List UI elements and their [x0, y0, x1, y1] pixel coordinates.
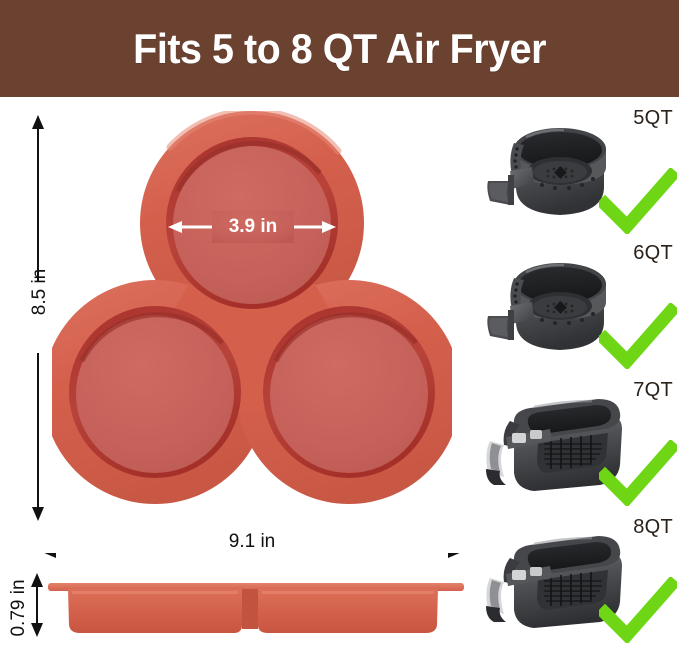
dimension-width-label: 9.1 in — [40, 531, 464, 553]
compatibility-item-8qt: 8QT — [478, 512, 679, 647]
dimension-cavity-diameter-label: 3.9 in — [212, 211, 294, 243]
dimension-thickness-label: 0.79 in — [8, 570, 30, 646]
capacity-label-8qt: 8QT — [633, 516, 673, 539]
green-check-icon — [599, 577, 677, 643]
mold-top-view-art — [52, 111, 452, 521]
banner-title: Fits 5 to 8 QT Air Fryer — [133, 25, 546, 73]
capacity-label-5qt: 5QT — [633, 107, 673, 130]
infographic-canvas: Fits 5 to 8 QT Air Fryer 8.5 in — [0, 0, 679, 656]
capacity-label-6qt: 6QT — [633, 242, 673, 265]
mold-side-profile-art — [46, 575, 466, 645]
compatibility-item-5qt: 5QT — [478, 103, 679, 238]
product-diagram-panel: 8.5 in — [0, 97, 478, 656]
green-check-icon — [599, 440, 677, 506]
compatibility-panel: 5QT — [478, 97, 679, 656]
compatibility-item-6qt: 6QT — [478, 238, 679, 373]
mold-side-profile — [46, 575, 466, 645]
mold-cavity-left — [69, 306, 241, 478]
mold-top-view: 3.9 in — [52, 111, 452, 521]
dimension-height-label: 8.5 in — [29, 264, 51, 320]
green-check-icon — [599, 168, 677, 234]
dimension-width: 9.1 in — [40, 529, 464, 563]
mold-cavity-right — [263, 306, 435, 478]
header-banner: Fits 5 to 8 QT Air Fryer — [0, 0, 679, 97]
dimension-thickness: 0.79 in — [0, 567, 46, 653]
compatibility-item-7qt: 7QT — [478, 375, 679, 510]
capacity-label-7qt: 7QT — [633, 379, 673, 402]
green-check-icon — [599, 303, 677, 369]
